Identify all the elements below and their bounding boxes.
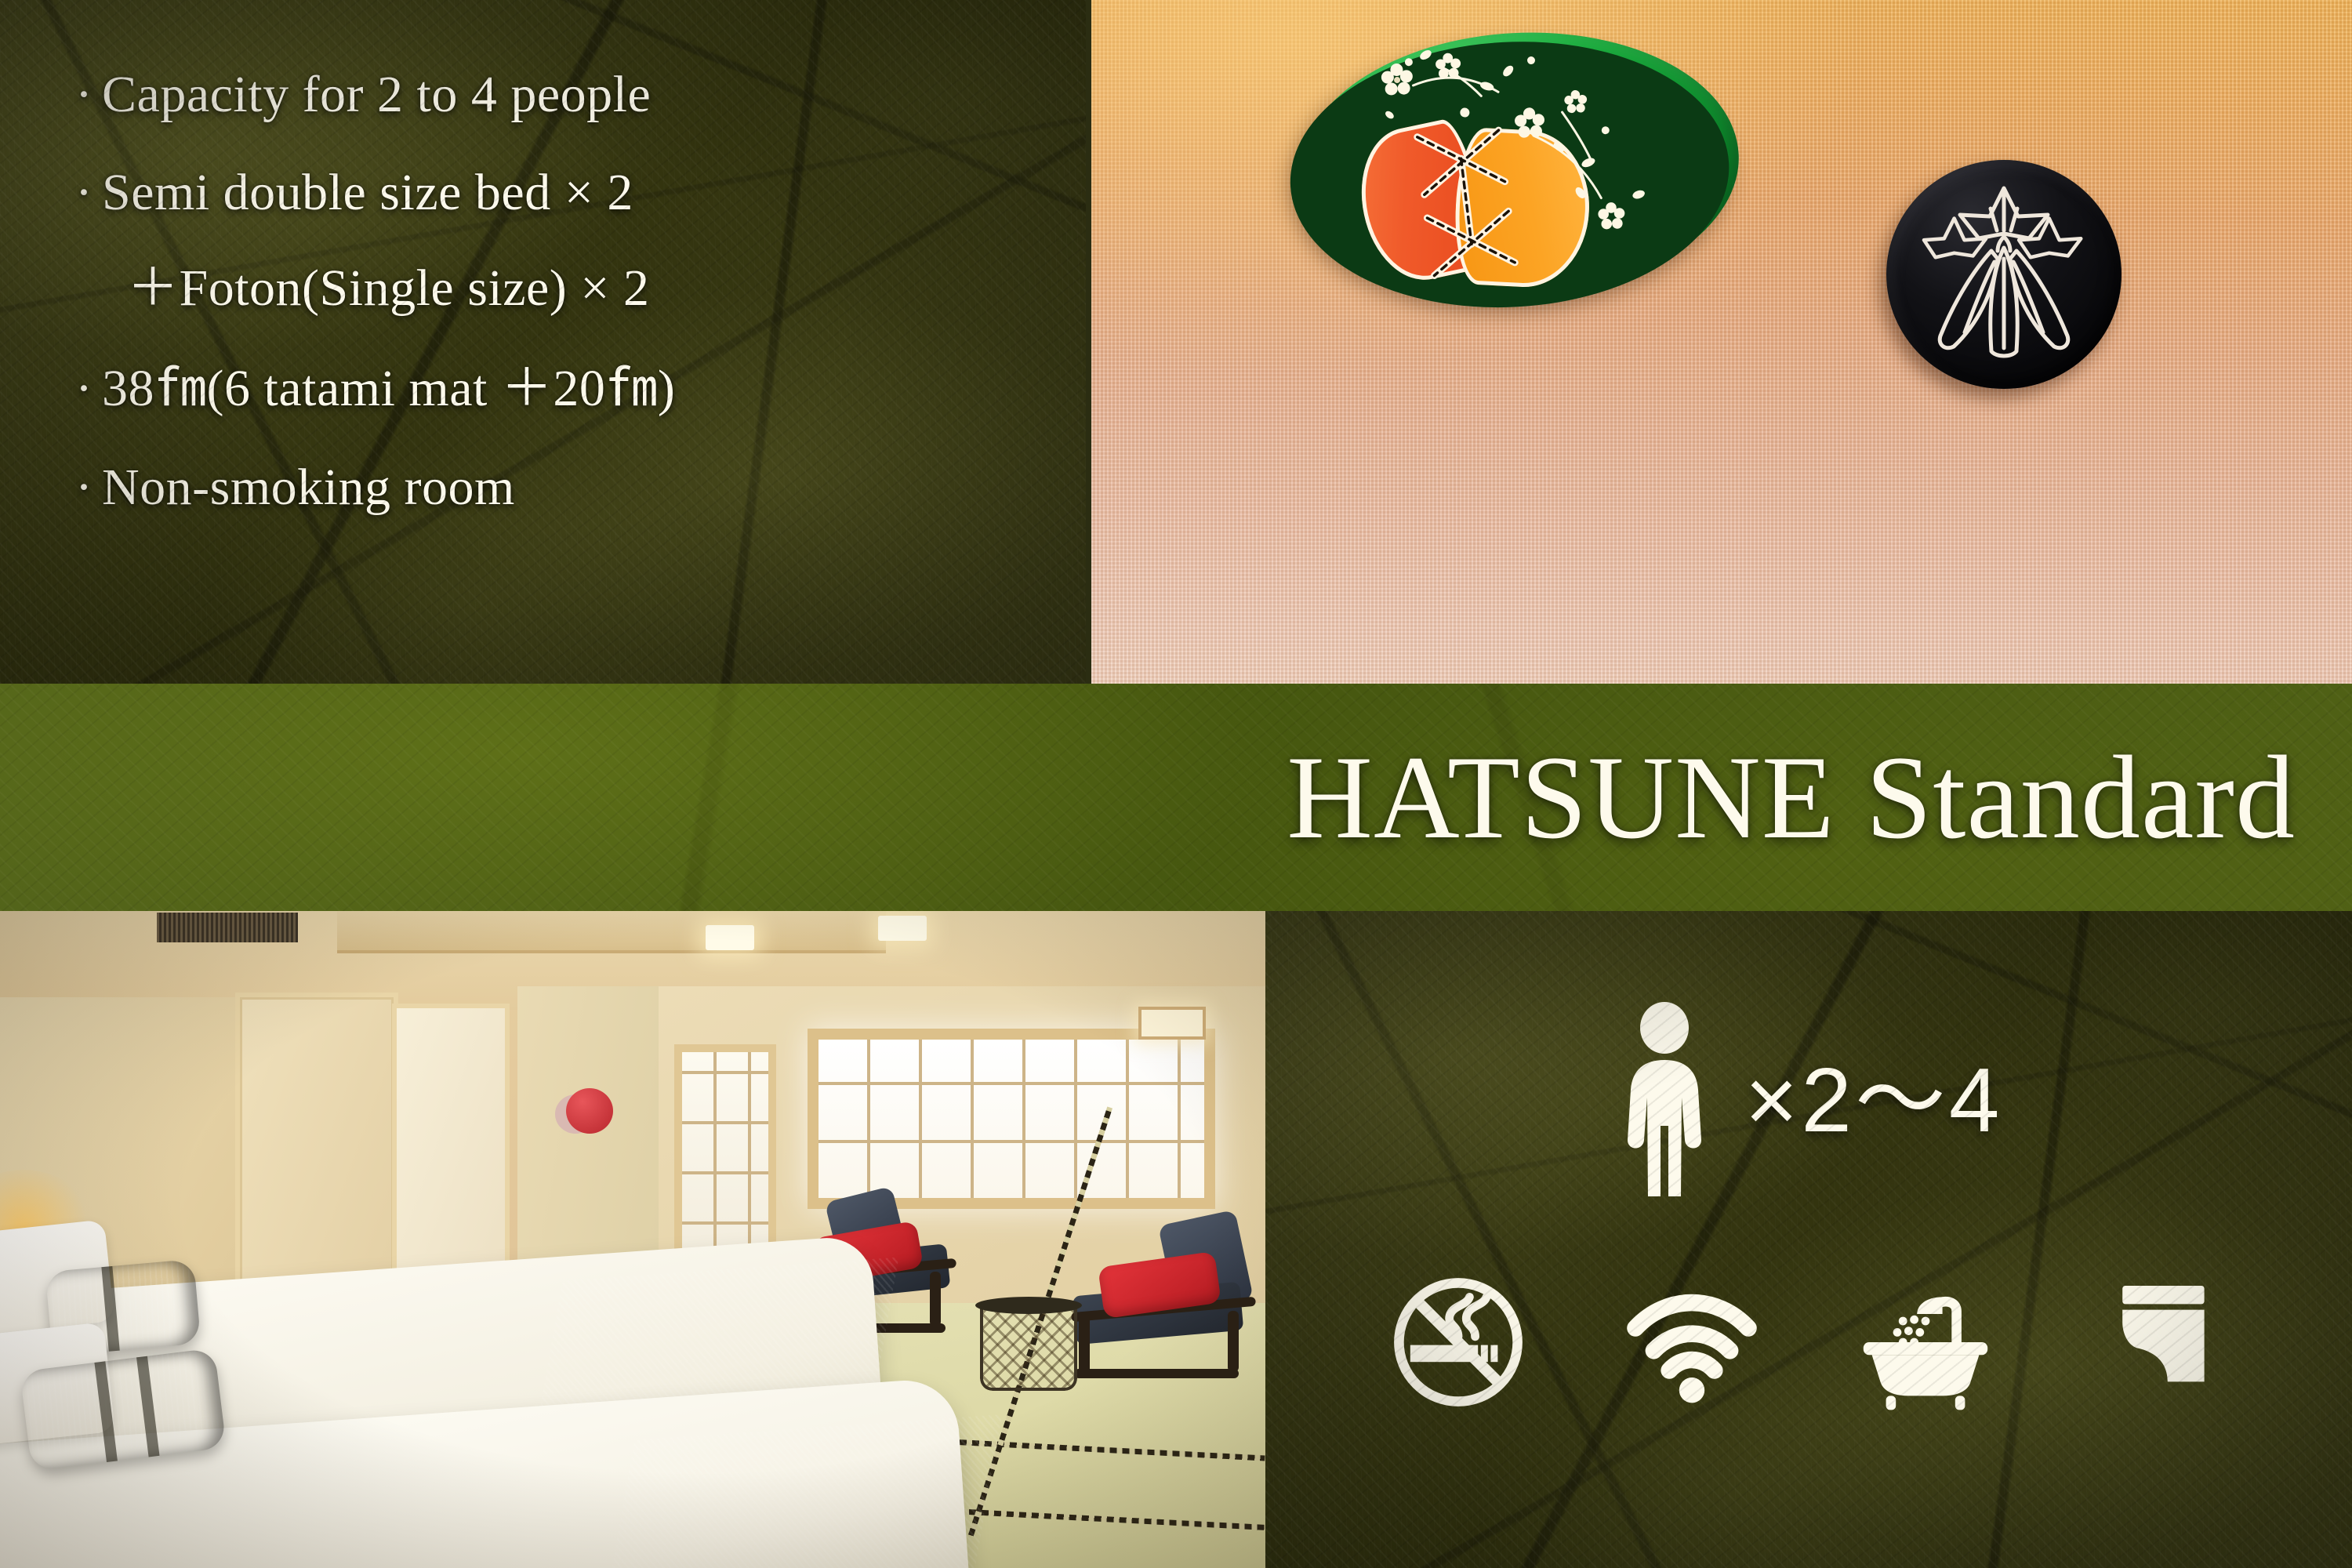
bullet-icon: ·: [75, 167, 102, 219]
shoji-window: [808, 1029, 1215, 1209]
spec-item-futon: ＋Foton(Single size) × 2: [75, 263, 1086, 314]
bed-runner: [605, 1414, 1002, 1568]
no-smoking-icon: [1388, 1272, 1529, 1413]
bullet-icon: ·: [75, 462, 102, 514]
side-table-top: [975, 1297, 1082, 1314]
lacquerware-photo: [1091, 0, 2352, 684]
capacity-label: ×2～4: [1745, 1054, 2003, 1145]
spec-item-futon-label: ＋Foton(Single size) × 2: [127, 260, 650, 317]
amenity-icon-row: [1265, 1272, 2352, 1413]
specifications-list: ·Capacity for 2 to 4 people ·Semi double…: [0, 0, 1086, 684]
rattan-side-table: [980, 1303, 1077, 1391]
bullet-icon: ·: [75, 69, 102, 121]
spec-item-capacity: ·Capacity for 2 to 4 people: [75, 69, 1086, 121]
ceiling-light: [878, 916, 927, 941]
page-title: HATSUNE Standard: [1287, 738, 2296, 857]
ceiling-light: [706, 925, 754, 950]
room-info-graphic: ·Capacity for 2 to 4 people ·Semi double…: [0, 0, 2352, 1568]
bath-shower-icon: [1855, 1272, 1996, 1413]
capacity-row: ×2～4: [1265, 1002, 2352, 1198]
wall-lamp: [1138, 1007, 1206, 1040]
spec-item-bed-label: Semi double size bed × 2: [102, 164, 633, 221]
spec-item-nonsmoking: ·Non-smoking room: [75, 462, 1086, 514]
person-icon: [1615, 1002, 1714, 1198]
toilet-icon: [2089, 1272, 2230, 1413]
bullet-icon: ·: [75, 363, 102, 415]
guest-room-photo: [0, 911, 1265, 1568]
ceiling-beam: [337, 911, 886, 953]
title-banner: HATSUNE Standard: [0, 684, 2352, 911]
amenities-panel: ×2～4: [1265, 911, 2352, 1568]
black-lacquer-plate: [1886, 160, 2122, 389]
spec-item-nonsmoking-label: Non-smoking room: [102, 459, 515, 516]
lounge-chair: [1074, 1217, 1259, 1381]
cherry-blossom-motif: [1294, 22, 1746, 310]
spec-item-area-label: 38㎙(6 tatami mat ＋20㎙): [102, 360, 675, 417]
spec-item-bed: ·Semi double size bed × 2: [75, 167, 1086, 219]
spec-item-area: ·38㎙(6 tatami mat ＋20㎙): [75, 363, 1086, 415]
specifications-panel: ·Capacity for 2 to 4 people ·Semi double…: [0, 0, 1086, 684]
green-lacquer-plate: [1294, 22, 1746, 310]
kamon-crest-icon: [1886, 160, 2122, 389]
spec-item-capacity-label: Capacity for 2 to 4 people: [102, 66, 651, 123]
temari-ball-ornament: [566, 1088, 613, 1134]
wifi-icon: [1621, 1272, 1762, 1413]
air-vent: [157, 913, 298, 942]
